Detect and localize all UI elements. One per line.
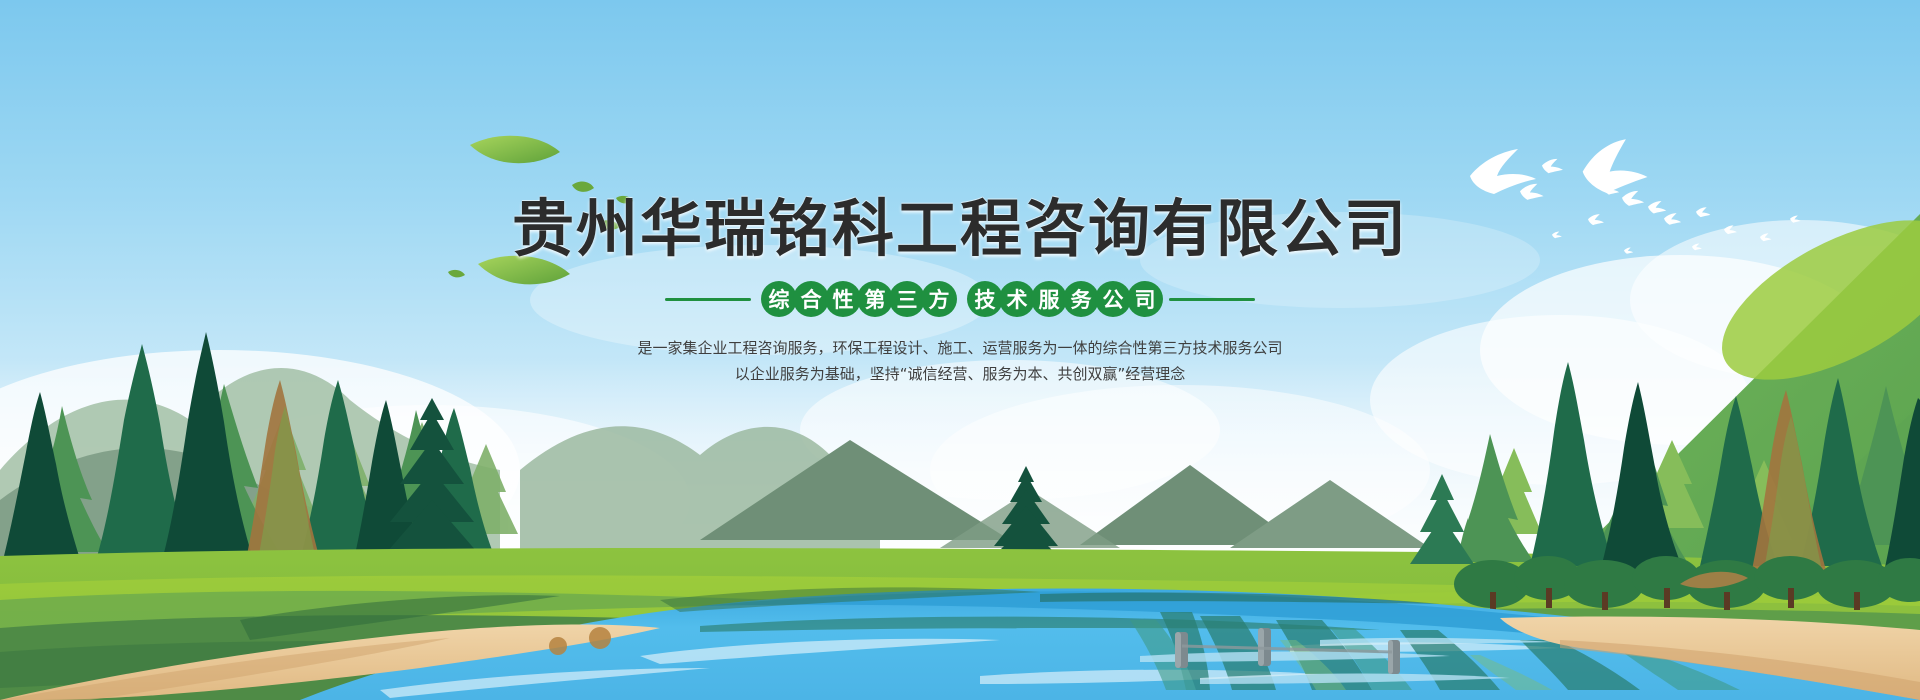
tagline-badge: 综 [761, 281, 797, 317]
tagline-rule-left [665, 298, 751, 301]
description-line-1: 是一家集企业工程咨询服务，环保工程设计、施工、运营服务为一体的综合性第三方技术服… [0, 335, 1920, 361]
tagline-badge: 务 [1063, 281, 1099, 317]
hero-text-block: 贵州华瑞铭科工程咨询有限公司 综 合 性 第 三 方 技 术 服 务 公 司 是… [0, 196, 1920, 387]
tagline-badge: 性 [825, 281, 861, 317]
description-line-2: 以企业服务为基础，坚持“诚信经营、服务为本、共创双赢”经营理念 [0, 361, 1920, 387]
tagline-row: 综 合 性 第 三 方 技 术 服 务 公 司 [0, 281, 1920, 317]
tagline-badge: 术 [999, 281, 1035, 317]
foreground-grass-tufts [240, 587, 1440, 640]
tagline-badge: 方 [921, 281, 957, 317]
description-block: 是一家集企业工程咨询服务，环保工程设计、施工、运营服务为一体的综合性第三方技术服… [0, 335, 1920, 387]
tagline-rule-right [1169, 298, 1255, 301]
tagline-badge: 司 [1127, 281, 1163, 317]
hero-banner: 贵州华瑞铭科工程咨询有限公司 综 合 性 第 三 方 技 术 服 务 公 司 是… [0, 0, 1920, 700]
tagline-badge: 公 [1095, 281, 1131, 317]
tagline-badge: 技 [967, 281, 1003, 317]
page-title: 贵州华瑞铭科工程咨询有限公司 [0, 196, 1920, 261]
tagline-badge: 三 [889, 281, 925, 317]
tagline-badge: 合 [793, 281, 829, 317]
tagline-badges: 综 合 性 第 三 方 技 术 服 务 公 司 [761, 281, 1159, 317]
tagline-badge: 服 [1031, 281, 1067, 317]
tagline-badge: 第 [857, 281, 893, 317]
